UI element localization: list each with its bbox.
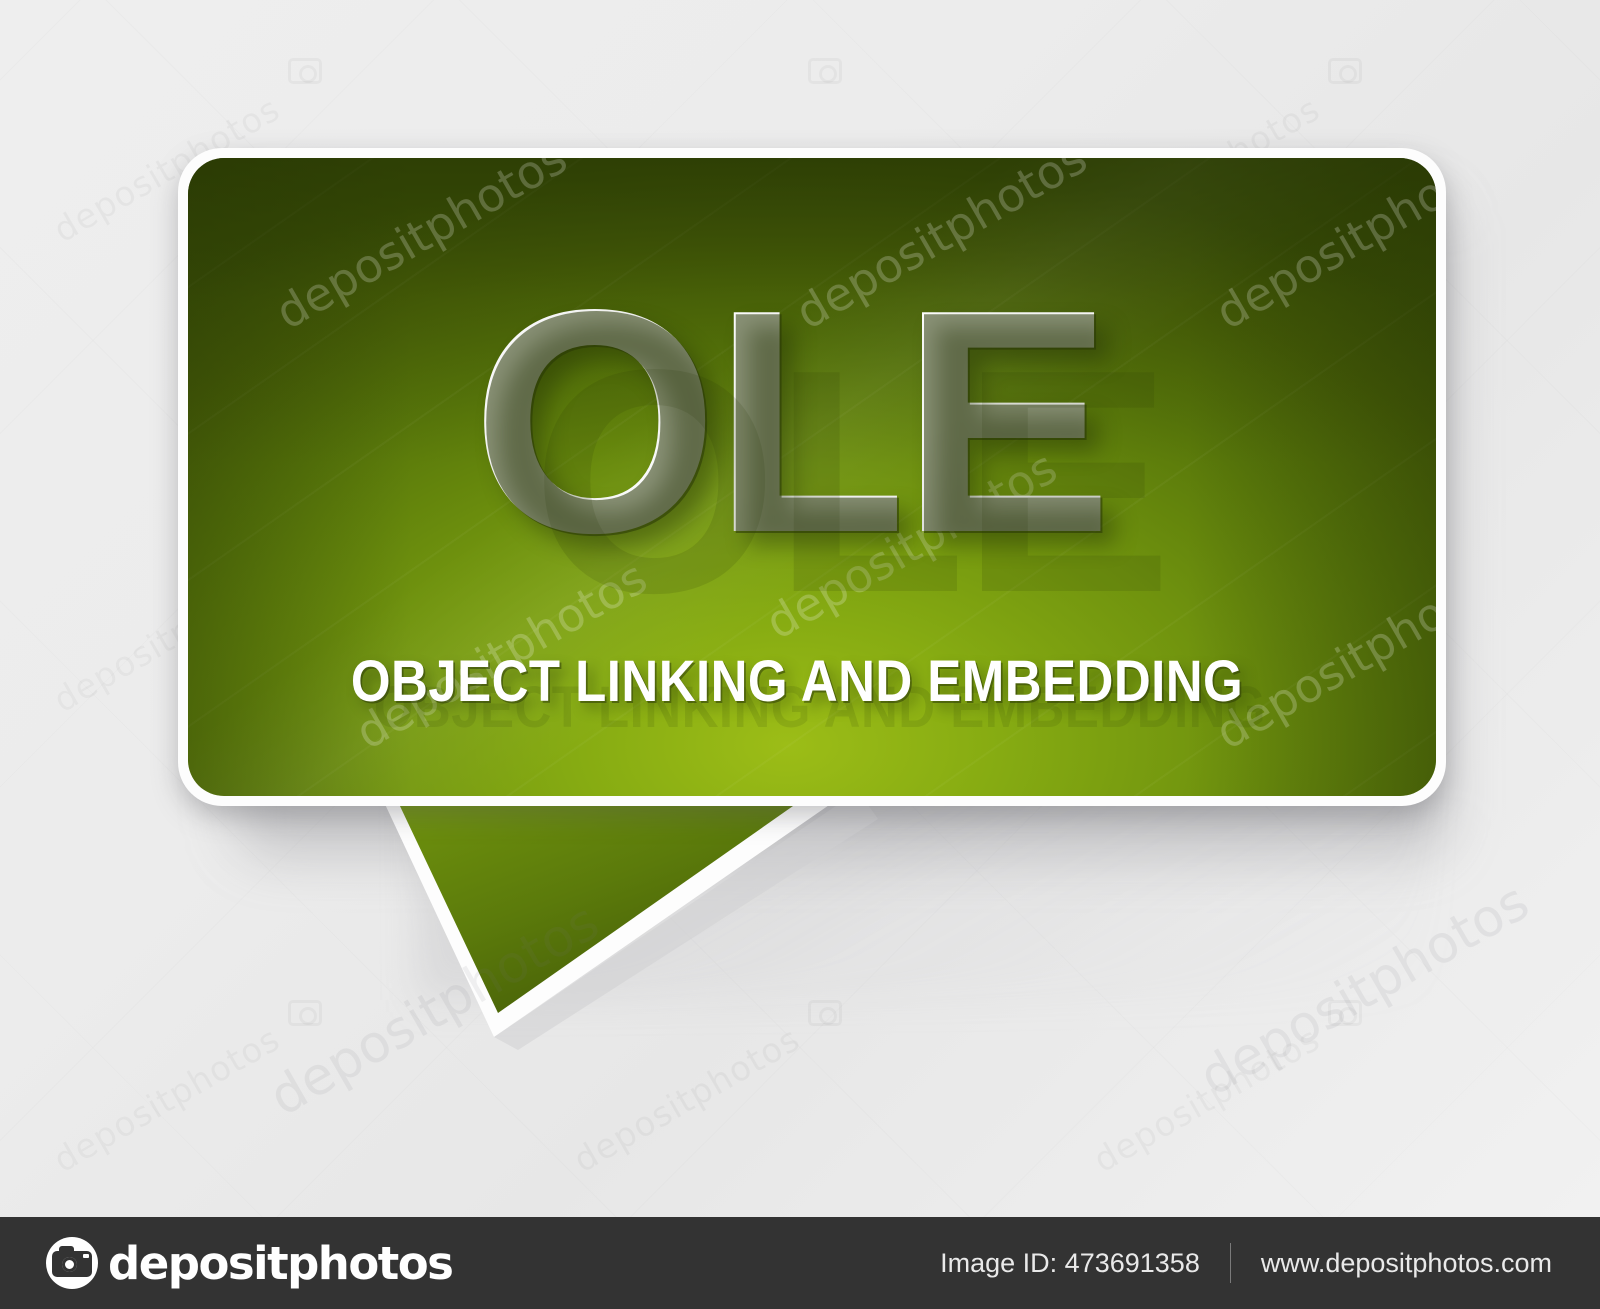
- bubble-face: depositphotos depositphotos depositphoto…: [188, 158, 1436, 796]
- website-link[interactable]: www.depositphotos.com: [1261, 1248, 1552, 1279]
- depositphotos-logo[interactable]: depositphotos: [46, 1237, 452, 1290]
- image-canvas: depositphotos depositphotos depositphoto…: [0, 0, 1600, 1309]
- acronym-letters: OLE: [471, 244, 1107, 599]
- canvas-watermark-camera-icon: [1328, 58, 1362, 84]
- logo-wordmark: depositphotos: [108, 1237, 452, 1290]
- camera-icon: [46, 1237, 98, 1289]
- footer-meta: Image ID: 473691358 www.depositphotos.co…: [940, 1243, 1552, 1283]
- image-id-label: Image ID: 473691358: [940, 1248, 1200, 1279]
- acronym-text: OLE: [188, 263, 1436, 581]
- footer-bar: depositphotos Image ID: 473691358 www.de…: [0, 1217, 1600, 1309]
- canvas-watermark-camera-icon: [288, 58, 322, 84]
- speech-bubble: depositphotos depositphotos depositphoto…: [168, 140, 1443, 1070]
- footer-divider: [1230, 1243, 1231, 1283]
- bubble-tail: [318, 785, 878, 1050]
- acronym-expansion-text: OBJECT LINKING AND EMBEDDING: [263, 653, 1361, 711]
- canvas-watermark-camera-icon: [808, 58, 842, 84]
